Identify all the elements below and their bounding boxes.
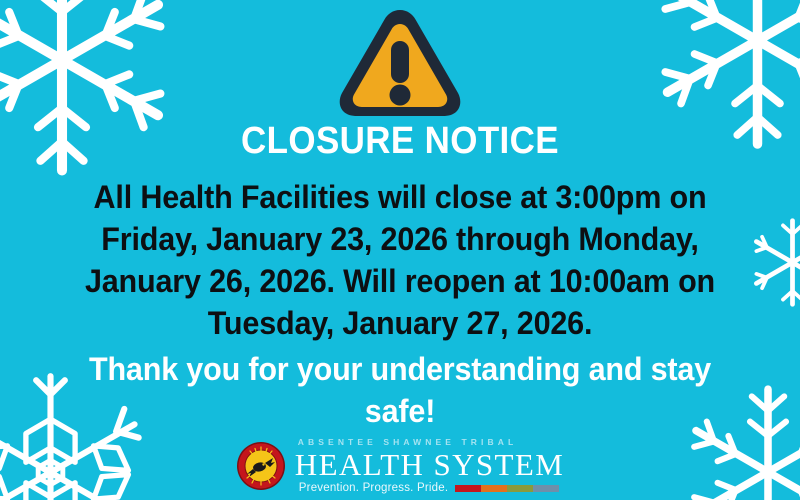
org-eyebrow-text: ABSENTEE SHAWNEE TRIBAL	[295, 438, 564, 447]
notice-text-block: CLOSURE NOTICE All Health Facilities wil…	[0, 122, 800, 433]
org-name-text: HEALTH SYSTEM	[295, 449, 564, 480]
warning-triangle-icon	[334, 4, 466, 118]
page-title: CLOSURE NOTICE	[58, 122, 742, 160]
health-system-wordmark: ABSENTEE SHAWNEE TRIBAL HEALTH SYSTEM Pr…	[295, 438, 564, 494]
notice-closing-text: Thank you for your understanding and sta…	[50, 349, 749, 433]
closure-notice-flyer: CLOSURE NOTICE All Health Facilities wil…	[0, 0, 800, 500]
accent-bar-segment-1	[455, 485, 481, 492]
notice-body-text: All Health Facilities will close at 3:00…	[50, 177, 749, 345]
accent-bar-segment-2	[481, 485, 507, 492]
tribal-seal-icon	[236, 441, 286, 491]
tagline-text: Prevention. Progress. Pride.	[299, 483, 448, 495]
footer-logo-lockup: ABSENTEE SHAWNEE TRIBAL HEALTH SYSTEM Pr…	[0, 438, 800, 494]
accent-bar-segment-3	[507, 485, 533, 492]
accent-bar-segment-4	[533, 485, 559, 492]
brand-accent-bar	[455, 485, 559, 492]
tagline-row: Prevention. Progress. Pride.	[295, 483, 564, 495]
